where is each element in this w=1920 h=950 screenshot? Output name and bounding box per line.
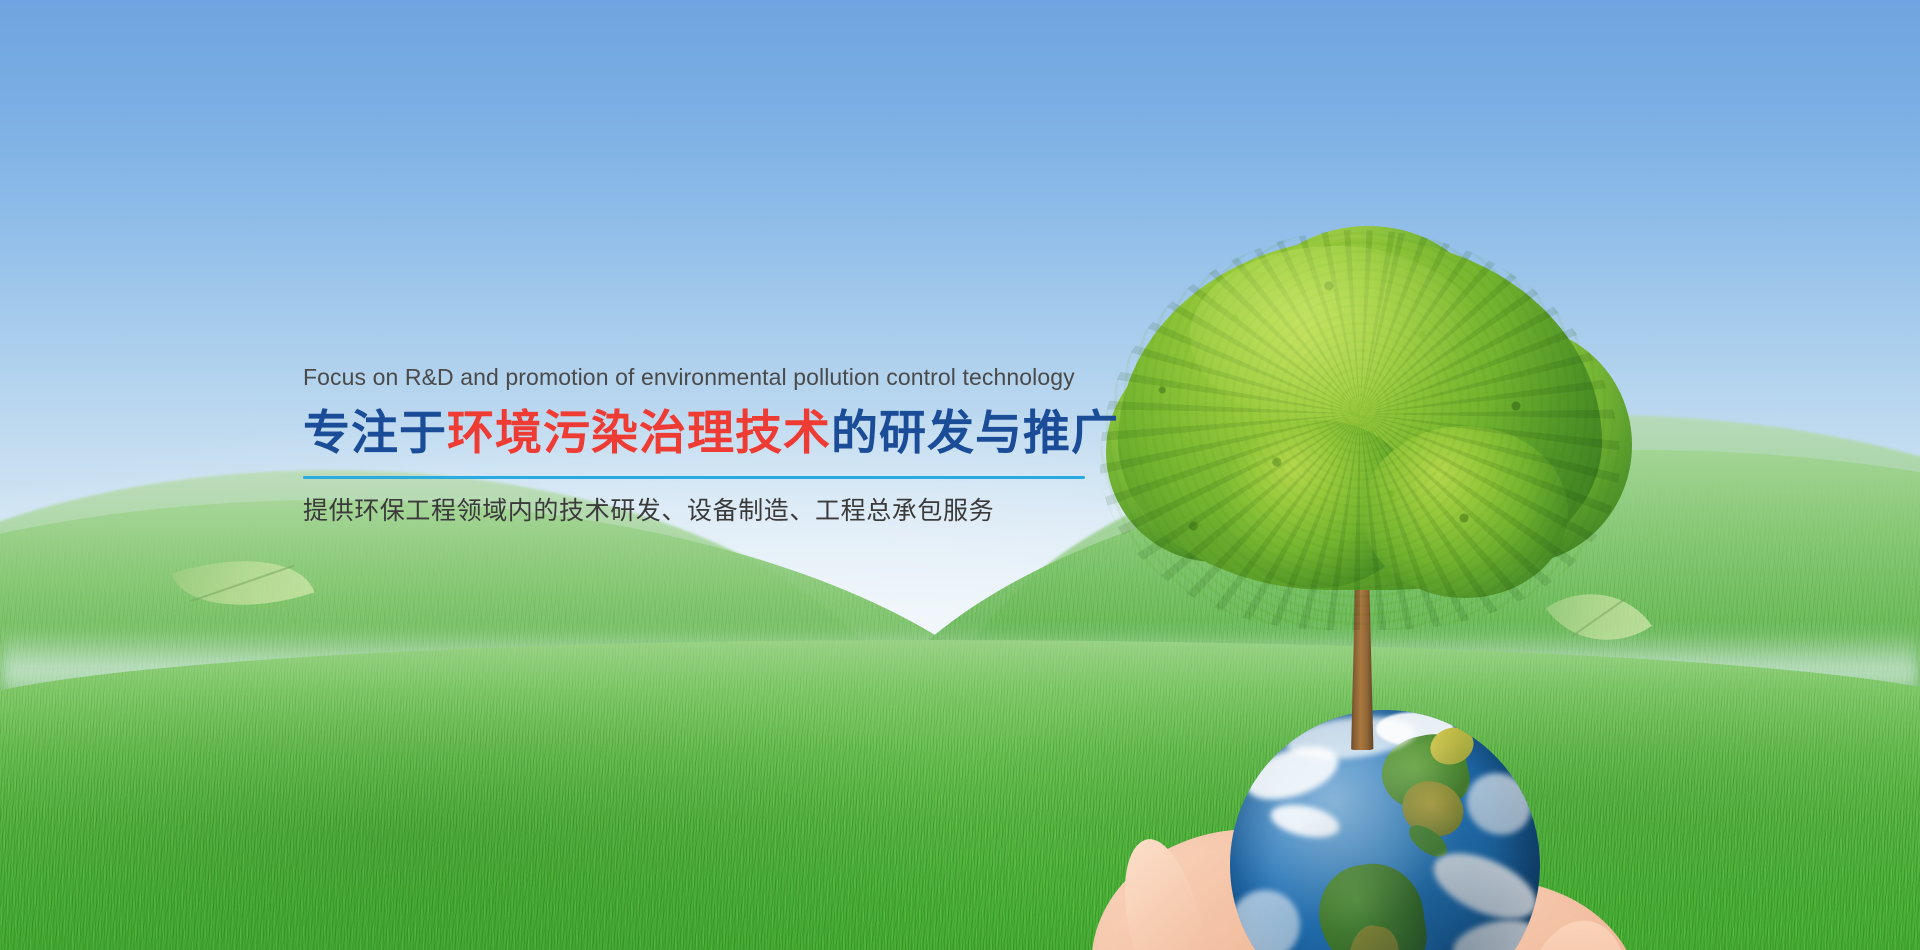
banner-copy: Focus on R&D and promotion of environmen… <box>303 364 1103 527</box>
leaf-vein <box>191 565 295 602</box>
foreground-meadow <box>0 640 1920 950</box>
hero-banner: Focus on R&D and promotion of environmen… <box>0 0 1920 950</box>
english-tagline: Focus on R&D and promotion of environmen… <box>303 364 1103 392</box>
globe-shading <box>1230 710 1540 950</box>
headline-lead: 专注于 <box>303 406 447 459</box>
headline-tail: 的研发与推广 <box>831 406 1119 459</box>
tree-globe-illustration <box>1100 230 1620 950</box>
divider <box>303 476 1085 479</box>
headline-emphasis: 环境污染治理技术 <box>447 406 831 459</box>
headline: 专注于环境污染治理技术的研发与推广 <box>303 405 1103 460</box>
meadow-shading <box>0 640 1920 950</box>
foliage-highlight <box>1190 246 1480 426</box>
tree-crown <box>1100 230 1620 660</box>
subtitle: 提供环保工程领域内的技术研发、设备制造、工程总承包服务 <box>303 496 1103 527</box>
earth-globe-icon <box>1230 710 1540 950</box>
